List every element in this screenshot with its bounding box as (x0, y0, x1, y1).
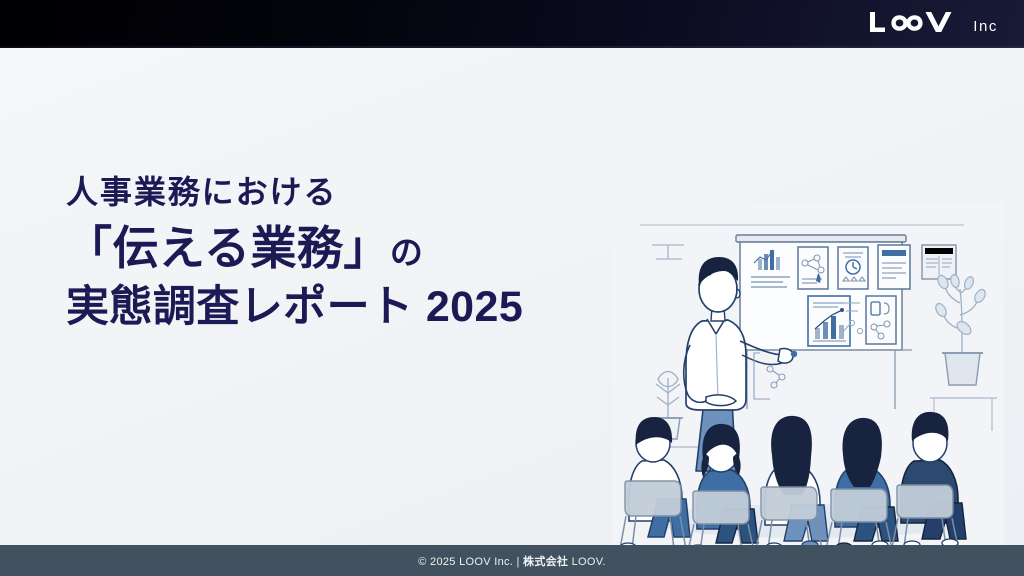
title-line-3: 実態調査レポート 2025 (66, 286, 606, 329)
slide-stage: 人事業務における 「伝える業務」の 実態調査レポート 2025 (0, 48, 1024, 545)
top-header-bar: Inc (0, 0, 1024, 46)
footer-company-suffix: LOOV. (568, 556, 605, 568)
title-line-2-main: 「伝える業務」 (66, 222, 390, 274)
title-line-2: 「伝える業務」の (66, 225, 606, 271)
title-line-2-suffix: の (390, 234, 423, 271)
footer-company-jp: 株式会社 (523, 556, 568, 568)
footer-bar: © 2025 LOOV Inc. | 株式会社 LOOV. (0, 545, 1024, 576)
footer-copyright-text: © 2025 LOOV Inc. | (418, 556, 523, 568)
logo-inc-label: Inc (973, 19, 998, 36)
loov-logo[interactable]: Inc (868, 10, 998, 36)
loov-infinity-logo-icon (868, 10, 964, 36)
page-title: 人事業務における 「伝える業務」の 実態調査レポート 2025 (66, 176, 606, 329)
presentation-meeting-illustration (612, 203, 1004, 548)
title-line-1: 人事業務における (66, 176, 606, 208)
footer-copyright: © 2025 LOOV Inc. | 株式会社 LOOV. (418, 553, 605, 569)
